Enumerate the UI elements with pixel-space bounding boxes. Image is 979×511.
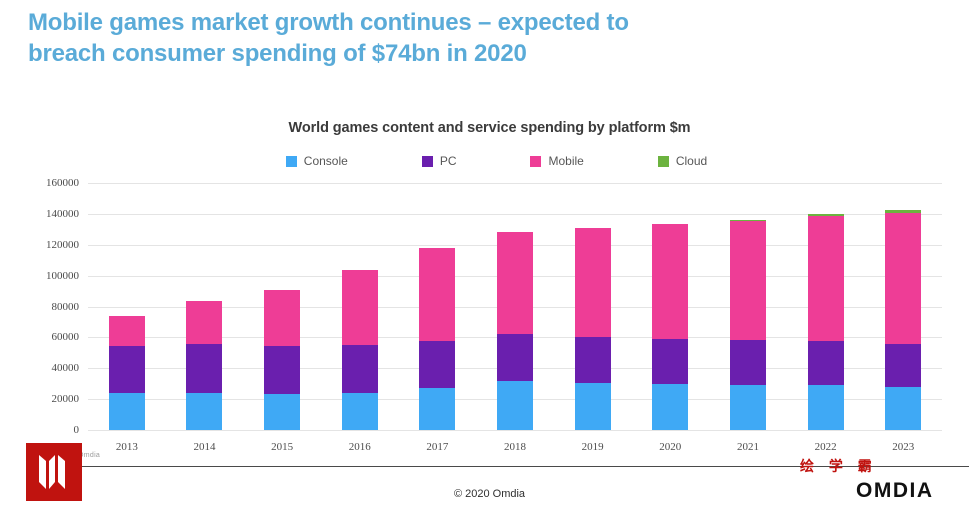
bar-segment-console[interactable]: [264, 394, 300, 430]
bar-stack[interactable]: [652, 224, 688, 430]
omdia-logo: OMDIA: [856, 479, 934, 503]
bar-segment-pc[interactable]: [109, 346, 145, 394]
bar-segment-mobile[interactable]: [342, 270, 378, 345]
y-axis-tick-label: 20000: [52, 393, 80, 405]
bar-stack[interactable]: [497, 232, 533, 430]
y-axis-tick-label: 40000: [52, 362, 80, 374]
bar-group-2016[interactable]: 2016: [321, 183, 399, 430]
bar-segment-console[interactable]: [730, 385, 766, 430]
bar-stack[interactable]: [575, 228, 611, 430]
x-axis-tick-label: 2022: [815, 441, 837, 453]
page-title-line-1: Mobile games market growth continues – e…: [28, 8, 718, 39]
bar-segment-mobile[interactable]: [264, 290, 300, 346]
bar-group-2017[interactable]: 2017: [399, 183, 477, 430]
bar-segment-mobile[interactable]: [575, 228, 611, 337]
x-axis-tick-label: 2016: [349, 441, 371, 453]
bar-segment-pc[interactable]: [264, 346, 300, 394]
page-title: Mobile games market growth continues – e…: [28, 8, 718, 69]
page-title-line-2: breach consumer spending of $74bn in 202…: [28, 39, 718, 70]
bar-segment-console[interactable]: [885, 387, 921, 430]
legend-item-mobile[interactable]: Mobile: [530, 154, 583, 168]
bar-group-2015[interactable]: 2015: [243, 183, 321, 430]
legend-swatch-pc: [422, 156, 433, 167]
y-axis-tick-label: 160000: [46, 177, 79, 189]
legend-item-cloud[interactable]: Cloud: [658, 154, 707, 168]
x-axis-tick-label: 2018: [504, 441, 526, 453]
bar-segment-mobile[interactable]: [109, 316, 145, 346]
bar-segment-pc[interactable]: [730, 340, 766, 385]
bar-segment-pc[interactable]: [497, 334, 533, 381]
bar-group-2013[interactable]: 2013: [88, 183, 166, 430]
legend-label: Cloud: [676, 154, 707, 168]
bar-segment-console[interactable]: [186, 393, 222, 430]
legend-label: Console: [304, 154, 348, 168]
plot-wrapper: 1600001400001200001000008000060000400002…: [0, 176, 979, 453]
bar-group-2023[interactable]: 2023: [864, 183, 942, 430]
bar-group-2021[interactable]: 2021: [709, 183, 787, 430]
legend-item-pc[interactable]: PC: [422, 154, 457, 168]
bar-segment-pc[interactable]: [575, 337, 611, 383]
y-axis-tick-label: 80000: [52, 301, 80, 313]
legend-item-console[interactable]: Console: [286, 154, 348, 168]
x-axis-tick-label: 2023: [892, 441, 914, 453]
bar-stack[interactable]: [342, 270, 378, 430]
bar-stack[interactable]: [264, 290, 300, 430]
bar-segment-pc[interactable]: [342, 345, 378, 393]
x-axis-tick-label: 2014: [193, 441, 215, 453]
bar-stack[interactable]: [885, 210, 921, 430]
bar-group-2018[interactable]: 2018: [476, 183, 554, 430]
x-axis-tick-label: 2021: [737, 441, 759, 453]
bar-group-2020[interactable]: 2020: [631, 183, 709, 430]
bar-segment-mobile[interactable]: [730, 221, 766, 340]
y-axis-tick-label: 100000: [46, 270, 79, 282]
w-watermark-logo: [26, 443, 82, 501]
chart-legend: ConsolePCMobileCloud: [0, 154, 979, 168]
bar-segment-mobile[interactable]: [808, 216, 844, 341]
bar-segment-mobile[interactable]: [419, 248, 455, 341]
plot-area: 1600001400001200001000008000060000400002…: [88, 183, 942, 430]
bar-group-2022[interactable]: 2022: [787, 183, 865, 430]
bar-group-2014[interactable]: 2014: [166, 183, 244, 430]
y-axis-tick-label: 140000: [46, 208, 79, 220]
x-axis-tick-label: 2017: [426, 441, 448, 453]
bar-segment-console[interactable]: [497, 381, 533, 430]
legend-swatch-mobile: [530, 156, 541, 167]
w-logo-icon: [35, 452, 73, 492]
bar-segment-console[interactable]: [652, 384, 688, 430]
bar-segment-pc[interactable]: [808, 341, 844, 385]
chinese-watermark: 绘 学 霸: [800, 456, 877, 476]
bar-segment-pc[interactable]: [652, 339, 688, 384]
bar-segment-mobile[interactable]: [885, 213, 921, 344]
bar-stack[interactable]: [419, 248, 455, 430]
chart-container: World games content and service spending…: [0, 108, 979, 453]
bar-stack[interactable]: [109, 316, 145, 430]
x-axis-tick-label: 2019: [582, 441, 604, 453]
bar-segment-console[interactable]: [419, 388, 455, 430]
chart-title: World games content and service spending…: [0, 120, 979, 136]
y-axis-tick-label: 0: [74, 424, 80, 436]
bar-segment-mobile[interactable]: [652, 224, 688, 339]
legend-label: PC: [440, 154, 457, 168]
bar-segment-console[interactable]: [342, 393, 378, 430]
copyright-text: © 2020 Omdia: [0, 488, 979, 500]
legend-label: Mobile: [548, 154, 583, 168]
bar-series-layer: 2013201420152016201720182019202020212022…: [88, 183, 942, 430]
gridline: 0: [88, 430, 942, 431]
x-axis-tick-label: 2020: [659, 441, 681, 453]
bar-segment-pc[interactable]: [419, 341, 455, 388]
bar-group-2019[interactable]: 2019: [554, 183, 632, 430]
x-axis-tick-label: 2013: [116, 441, 138, 453]
bar-segment-console[interactable]: [109, 393, 145, 430]
bar-stack[interactable]: [808, 214, 844, 430]
y-axis-tick-label: 60000: [52, 331, 80, 343]
bar-stack[interactable]: [730, 220, 766, 430]
bar-segment-pc[interactable]: [186, 344, 222, 393]
y-axis-tick-label: 120000: [46, 239, 79, 251]
x-axis-tick-label: 2015: [271, 441, 293, 453]
bar-segment-mobile[interactable]: [497, 232, 533, 333]
legend-swatch-console: [286, 156, 297, 167]
bar-stack[interactable]: [186, 301, 222, 430]
bar-segment-pc[interactable]: [885, 344, 921, 387]
bar-segment-mobile[interactable]: [186, 301, 222, 344]
legend-swatch-cloud: [658, 156, 669, 167]
bar-segment-console[interactable]: [575, 383, 611, 430]
bar-segment-console[interactable]: [808, 385, 844, 430]
